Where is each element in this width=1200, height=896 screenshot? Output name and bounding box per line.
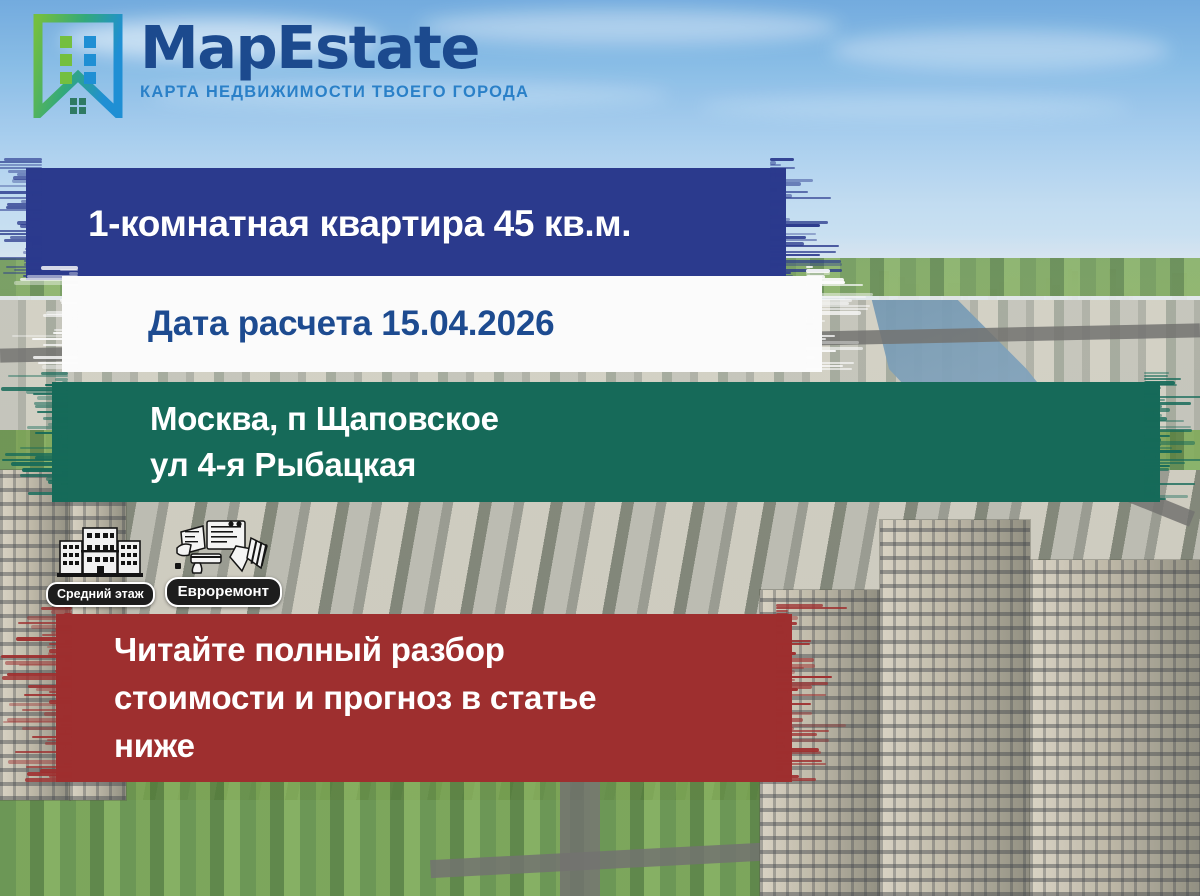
renovation-tools-icon bbox=[173, 518, 273, 574]
property-title-banner: 1-комнатная квартира 45 кв.м. bbox=[26, 168, 786, 280]
cta-line-3: ниже bbox=[114, 722, 792, 770]
logo[interactable]: MapEstate КАРТА НЕДВИЖИМОСТИ ТВОЕГО ГОРО… bbox=[30, 14, 529, 118]
badge-art bbox=[57, 523, 143, 579]
logo-text: MapEstate КАРТА НЕДВИЖИМОСТИ ТВОЕГО ГОРО… bbox=[140, 14, 529, 102]
poster: MapEstate КАРТА НЕДВИЖИМОСТИ ТВОЕГО ГОРО… bbox=[0, 0, 1200, 896]
cta-banner[interactable]: Читайте полный разбор стоимости и прогно… bbox=[56, 614, 792, 782]
cta-line-2: стоимости и прогноз в статье bbox=[114, 674, 792, 722]
brand-tagline: КАРТА НЕДВИЖИМОСТИ ТВОЕГО ГОРОДА bbox=[140, 83, 529, 102]
brand-name: MapEstate bbox=[140, 20, 529, 77]
brand-header: MapEstate КАРТА НЕДВИЖИМОСТИ ТВОЕГО ГОРО… bbox=[0, 0, 1200, 128]
feature-badges: Средний этаж bbox=[46, 518, 282, 607]
badge-label: Средний этаж bbox=[46, 582, 155, 607]
address-line-street: ул 4-я Рыбацкая bbox=[150, 442, 1160, 488]
address-banner: Москва, п Щаповское ул 4-я Рыбацкая bbox=[52, 382, 1160, 502]
badge-art bbox=[173, 518, 273, 574]
badge-label: Евроремонт bbox=[165, 577, 282, 607]
badge-euro-renovation[interactable]: Евроремонт bbox=[165, 518, 282, 607]
cta-text: Читайте полный разбор стоимости и прогно… bbox=[56, 626, 792, 771]
cta-line-1: Читайте полный разбор bbox=[114, 626, 792, 674]
badge-middle-floor[interactable]: Средний этаж bbox=[46, 523, 155, 607]
calculation-date-banner: Дата расчета 15.04.2026 bbox=[62, 276, 822, 372]
bookmark-building-icon bbox=[30, 14, 126, 118]
property-title-text: 1-комнатная квартира 45 кв.м. bbox=[26, 203, 786, 245]
apartment-buildings-icon bbox=[57, 523, 143, 579]
calculation-date-text: Дата расчета 15.04.2026 bbox=[62, 304, 822, 344]
address-line-city: Москва, п Щаповское bbox=[150, 396, 1160, 442]
address-text: Москва, п Щаповское ул 4-я Рыбацкая bbox=[52, 396, 1160, 487]
